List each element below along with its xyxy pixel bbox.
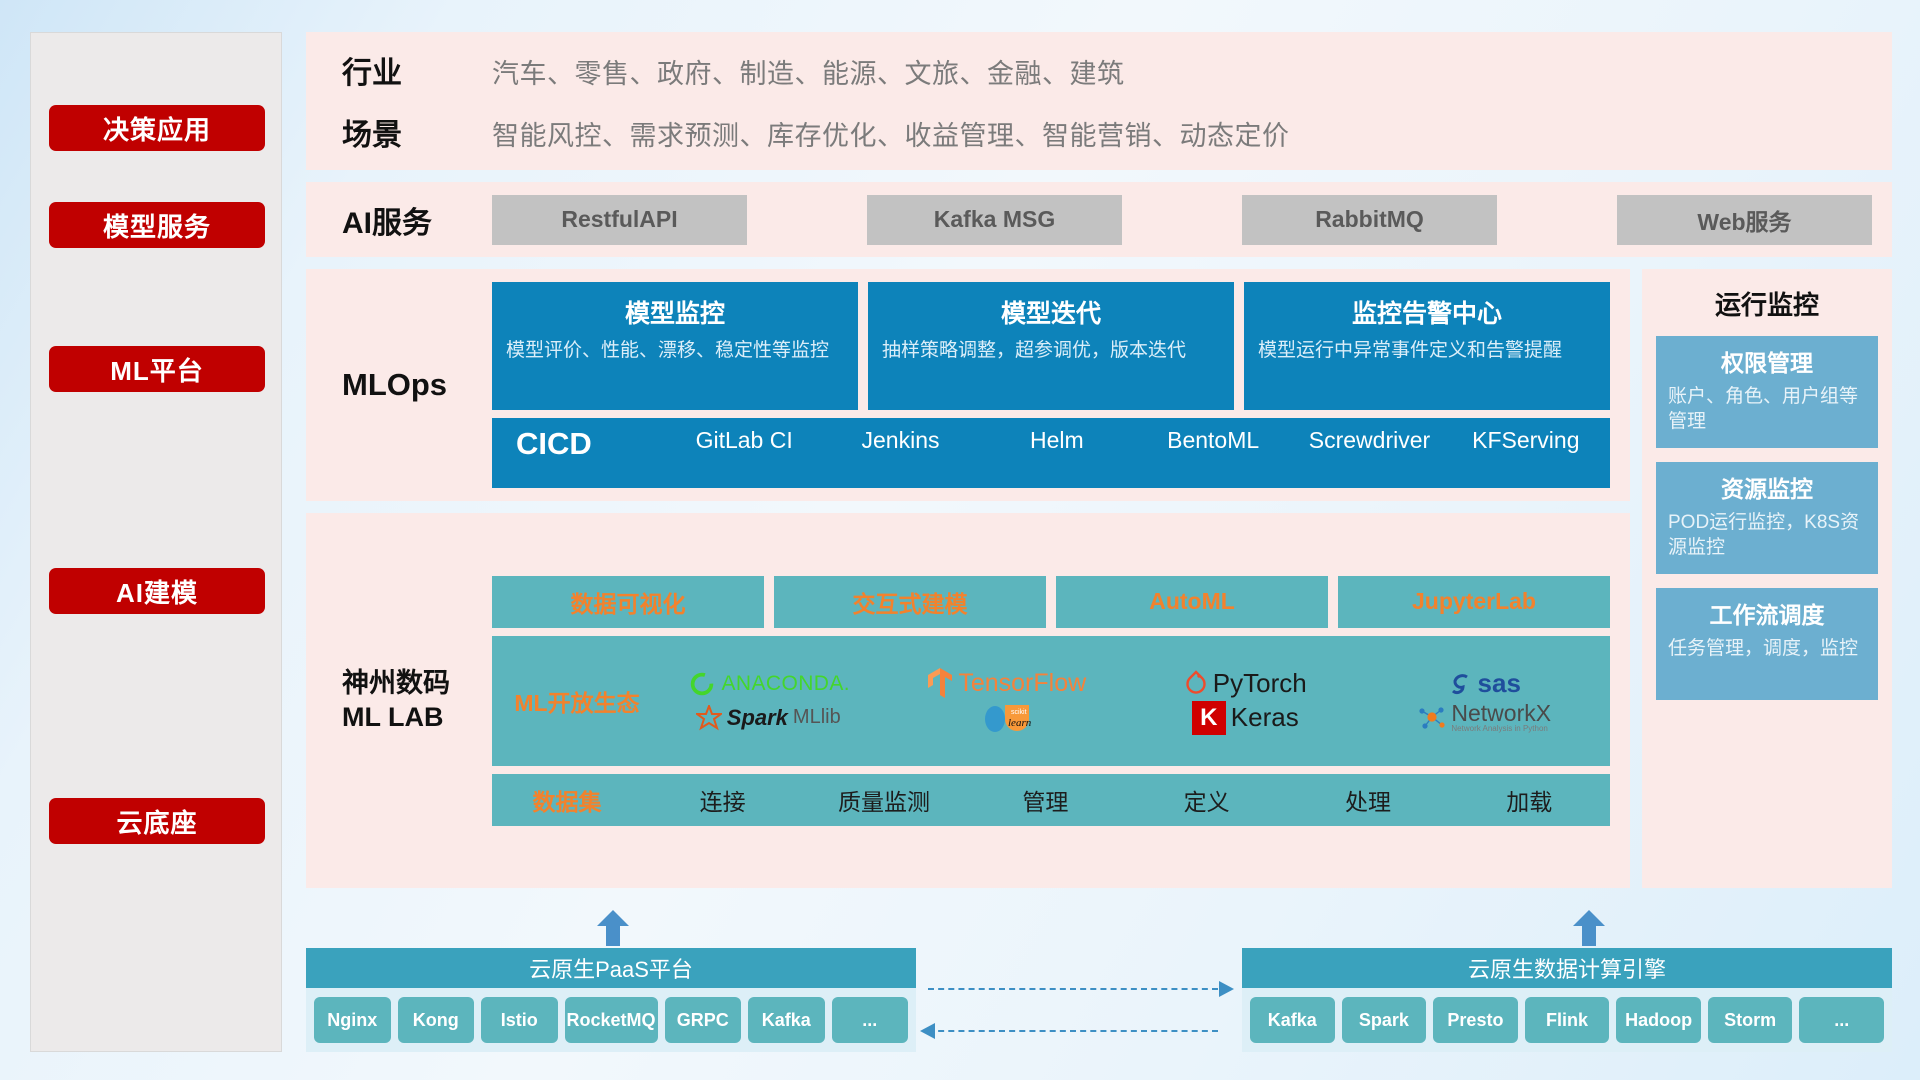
- card-title: 工作流调度: [1668, 596, 1866, 630]
- ml-lab-label-line2: ML LAB: [342, 701, 492, 735]
- svg-text:learn: learn: [1008, 717, 1032, 729]
- data-engine-chip-list: Kafka Spark Presto Flink Hadoop Storm ..…: [1242, 988, 1892, 1052]
- networkx-label: NetworkX: [1451, 702, 1551, 725]
- rail-item-model-service[interactable]: 模型服务: [49, 202, 265, 248]
- pytorch-logo: PyTorch: [1184, 668, 1307, 699]
- svg-text:scikit: scikit: [1011, 709, 1027, 716]
- data-engine-title: 云原生数据计算引擎: [1242, 948, 1892, 988]
- networkx-sub: Network Analysis in Python: [1451, 725, 1551, 733]
- arrow-up-icon-right: [1572, 910, 1606, 946]
- spark-mllib-logo: Spark MLlib: [696, 705, 841, 731]
- rail-label: 决策应用: [103, 110, 211, 147]
- lab-tool-data-visualization[interactable]: 数据可视化: [492, 576, 764, 628]
- card-title: 权限管理: [1668, 344, 1866, 378]
- dashed-line-right: [928, 988, 1218, 990]
- platform-left: MLOps 模型监控 模型评价、性能、漂移、稳定性等监控 模型迭代 抽样策略调整…: [306, 269, 1630, 888]
- networkx-logo: NetworkX Network Analysis in Python: [1416, 702, 1551, 733]
- monitoring-card-workflow[interactable]: 工作流调度 任务管理，调度，监控: [1656, 588, 1878, 700]
- dataset-item-connect[interactable]: 连接: [642, 783, 803, 817]
- cloud-base-row: 云原生PaaS平台 Nginx Kong Istio RocketMQ GRPC…: [306, 902, 1892, 1052]
- engine-chip-more[interactable]: ...: [1799, 997, 1884, 1043]
- rail-label: AI建模: [116, 573, 198, 610]
- eco-label: ML开放生态: [502, 684, 652, 718]
- cicd-item-helm[interactable]: Helm: [979, 426, 1135, 455]
- monitoring-title: 运行监控: [1715, 285, 1819, 322]
- card-title: 模型监控: [506, 294, 844, 330]
- scene-row: 场景 智能风控、需求预测、库存优化、收益管理、智能营销、动态定价: [342, 110, 1892, 154]
- industry-label: 行业: [342, 48, 492, 92]
- cicd-label: CICD: [516, 426, 666, 462]
- card-desc: 抽样策略调整，超参调优，版本迭代: [882, 338, 1220, 363]
- cicd-item-jenkins[interactable]: Jenkins: [822, 426, 978, 455]
- card-desc: 模型运行中异常事件定义和告警提醒: [1258, 338, 1596, 363]
- rail-item-ai-modeling[interactable]: AI建模: [49, 568, 265, 614]
- cicd-item-screwdriver[interactable]: Screwdriver: [1291, 426, 1447, 455]
- tensorflow-icon: [927, 668, 953, 700]
- arrow-left-icon: [920, 1023, 935, 1039]
- monitoring-card-permission[interactable]: 权限管理 账户、角色、用户组等管理: [1656, 336, 1878, 448]
- ml-lab-label: 神州数码 ML LAB: [342, 667, 492, 735]
- rail-label: 模型服务: [103, 207, 211, 244]
- paas-chip-rocketmq[interactable]: RocketMQ: [565, 997, 658, 1043]
- paas-chip-more[interactable]: ...: [832, 997, 909, 1043]
- mlops-label: MLOps: [342, 367, 492, 403]
- networkx-icon: [1416, 704, 1446, 732]
- anaconda-icon: [687, 669, 717, 699]
- data-engine-group: 云原生数据计算引擎 Kafka Spark Presto Flink Hadoo…: [1242, 948, 1892, 1052]
- card-desc: 任务管理，调度，监控: [1668, 636, 1866, 661]
- tensorflow-logo: TensorFlow: [927, 668, 1086, 700]
- scene-label: 场景: [342, 110, 492, 154]
- ai-service-label: AI服务: [342, 198, 492, 242]
- runtime-monitoring-panel: 运行监控 权限管理 账户、角色、用户组等管理 资源监控 POD运行监控，K8S资…: [1642, 269, 1892, 888]
- card-title: 模型迭代: [882, 294, 1220, 330]
- engine-chip-hadoop[interactable]: Hadoop: [1616, 997, 1701, 1043]
- mlops-band: MLOps 模型监控 模型评价、性能、漂移、稳定性等监控 模型迭代 抽样策略调整…: [306, 269, 1630, 501]
- lab-tool-interactive-modeling[interactable]: 交互式建模: [774, 576, 1046, 628]
- platform-middle: MLOps 模型监控 模型评价、性能、漂移、稳定性等监控 模型迭代 抽样策略调整…: [306, 269, 1892, 888]
- dataset-item-load[interactable]: 加载: [1449, 783, 1610, 817]
- cicd-item-gitlab-ci[interactable]: GitLab CI: [666, 426, 822, 455]
- scene-value: 智能风控、需求预测、库存优化、收益管理、智能营销、动态定价: [492, 114, 1290, 153]
- engine-chip-presto[interactable]: Presto: [1433, 997, 1518, 1043]
- scikit-learn-icon: scikit learn: [981, 701, 1033, 735]
- paas-platform-group: 云原生PaaS平台 Nginx Kong Istio RocketMQ GRPC…: [306, 948, 916, 1052]
- arrow-up-icon-left: [596, 910, 630, 946]
- cicd-row: CICD GitLab CI Jenkins Helm BentoML Scre…: [492, 418, 1610, 488]
- anaconda-logo: ANACONDA.: [687, 669, 850, 699]
- paas-chip-istio[interactable]: Istio: [481, 997, 558, 1043]
- keras-k-icon: K: [1192, 701, 1226, 735]
- dataset-row: 数据集 连接 质量监测 管理 定义 处理 加载: [492, 774, 1610, 826]
- paas-chip-kong[interactable]: Kong: [398, 997, 475, 1043]
- card-desc: 账户、角色、用户组等管理: [1668, 384, 1866, 435]
- keras-label: Keras: [1231, 702, 1299, 733]
- engine-chip-flink[interactable]: Flink: [1525, 997, 1610, 1043]
- spark-label: Spark: [727, 705, 788, 731]
- engine-chip-kafka[interactable]: Kafka: [1250, 997, 1335, 1043]
- mllib-label: MLlib: [793, 706, 841, 729]
- dataset-item-quality[interactable]: 质量监测: [803, 783, 964, 817]
- logo-grid: ANACONDA. TensorFlow: [652, 667, 1600, 735]
- arrow-right-icon: [1219, 981, 1234, 997]
- rail-label: 云底座: [116, 803, 197, 840]
- mlops-card-model-iteration[interactable]: 模型迭代 抽样策略调整，超参调优，版本迭代: [868, 282, 1234, 410]
- mlops-card-model-monitoring[interactable]: 模型监控 模型评价、性能、漂移、稳定性等监控: [492, 282, 858, 410]
- card-title: 资源监控: [1668, 470, 1866, 504]
- monitoring-card-resource[interactable]: 资源监控 POD运行监控，K8S资源监控: [1656, 462, 1878, 574]
- ai-service-chips: RestfulAPI Kafka MSG RabbitMQ Web服务: [492, 195, 1892, 245]
- service-chip-kafka-msg[interactable]: Kafka MSG: [867, 195, 1122, 245]
- decision-apps-band: 行业 汽车、零售、政府、制造、能源、文旅、金融、建筑 场景 智能风控、需求预测、…: [306, 32, 1892, 170]
- engine-chip-spark[interactable]: Spark: [1342, 997, 1427, 1043]
- sas-icon: [1447, 671, 1473, 697]
- layer-rail: 决策应用 模型服务 ML平台 AI建模 云底座: [30, 32, 282, 1052]
- card-title: 监控告警中心: [1258, 294, 1596, 330]
- cicd-item-bentoml[interactable]: BentoML: [1135, 426, 1291, 455]
- anaconda-label: ANACONDA.: [722, 672, 850, 696]
- dataset-item-define[interactable]: 定义: [1126, 783, 1287, 817]
- mlops-card-alert-center[interactable]: 监控告警中心 模型运行中异常事件定义和告警提醒: [1244, 282, 1610, 410]
- cicd-item-kfserving[interactable]: KFServing: [1448, 426, 1604, 455]
- scikit-learn-logo: scikit learn: [981, 701, 1033, 735]
- rail-item-decision-apps[interactable]: 决策应用: [49, 105, 265, 151]
- paas-title: 云原生PaaS平台: [306, 948, 916, 988]
- lab-tool-jupyterlab[interactable]: JupyterLab: [1338, 576, 1610, 628]
- main-column: 行业 汽车、零售、政府、制造、能源、文旅、金融、建筑 场景 智能风控、需求预测、…: [306, 32, 1892, 1052]
- paas-chip-nginx[interactable]: Nginx: [314, 997, 391, 1043]
- ai-service-band: AI服务 RestfulAPI Kafka MSG RabbitMQ Web服务: [306, 182, 1892, 257]
- paas-chip-kafka[interactable]: Kafka: [748, 997, 825, 1043]
- paas-chip-list: Nginx Kong Istio RocketMQ GRPC Kafka ...: [306, 988, 916, 1052]
- ml-open-ecosystem: ML开放生态 ANACONDA.: [492, 636, 1610, 766]
- dataset-item-manage[interactable]: 管理: [965, 783, 1126, 817]
- service-chip-web-service[interactable]: Web服务: [1617, 195, 1872, 245]
- dataset-label: 数据集: [492, 783, 642, 817]
- keras-logo: K Keras: [1192, 701, 1299, 735]
- rail-item-ml-platform[interactable]: ML平台: [49, 346, 265, 392]
- lab-tool-automl[interactable]: AutoML: [1056, 576, 1328, 628]
- paas-chip-grpc[interactable]: GRPC: [665, 997, 742, 1043]
- ml-lab-band: 神州数码 ML LAB 数据可视化 交互式建模 AutoML JupyterLa…: [306, 513, 1630, 888]
- diagram-root: 决策应用 模型服务 ML平台 AI建模 云底座 行业 汽车、零售、政府、制造、能…: [0, 0, 1920, 1080]
- service-chip-restfulapi[interactable]: RestfulAPI: [492, 195, 747, 245]
- industry-row: 行业 汽车、零售、政府、制造、能源、文旅、金融、建筑: [342, 48, 1892, 92]
- tensorflow-label: TensorFlow: [958, 669, 1086, 698]
- engine-chip-storm[interactable]: Storm: [1708, 997, 1793, 1043]
- sas-logo: sas: [1447, 668, 1521, 699]
- card-desc: POD运行监控，K8S资源监控: [1668, 510, 1866, 561]
- dataset-item-process[interactable]: 处理: [1287, 783, 1448, 817]
- sas-label: sas: [1478, 668, 1521, 699]
- dashed-line-left: [928, 1030, 1218, 1032]
- bidirectional-link: [924, 952, 1234, 1052]
- card-desc: 模型评价、性能、漂移、稳定性等监控: [506, 338, 844, 363]
- mlops-card-list: 模型监控 模型评价、性能、漂移、稳定性等监控 模型迭代 抽样策略调整，超参调优，…: [492, 282, 1610, 410]
- industry-value: 汽车、零售、政府、制造、能源、文旅、金融、建筑: [492, 52, 1125, 91]
- pytorch-icon: [1184, 669, 1208, 699]
- lab-tool-list: 数据可视化 交互式建模 AutoML JupyterLab: [492, 576, 1610, 628]
- pytorch-label: PyTorch: [1213, 668, 1307, 699]
- ml-lab-label-line1: 神州数码: [342, 667, 492, 701]
- rail-label: ML平台: [110, 351, 204, 388]
- spark-star-icon: [696, 705, 722, 731]
- rail-item-cloud-base[interactable]: 云底座: [49, 798, 265, 844]
- service-chip-rabbitmq[interactable]: RabbitMQ: [1242, 195, 1497, 245]
